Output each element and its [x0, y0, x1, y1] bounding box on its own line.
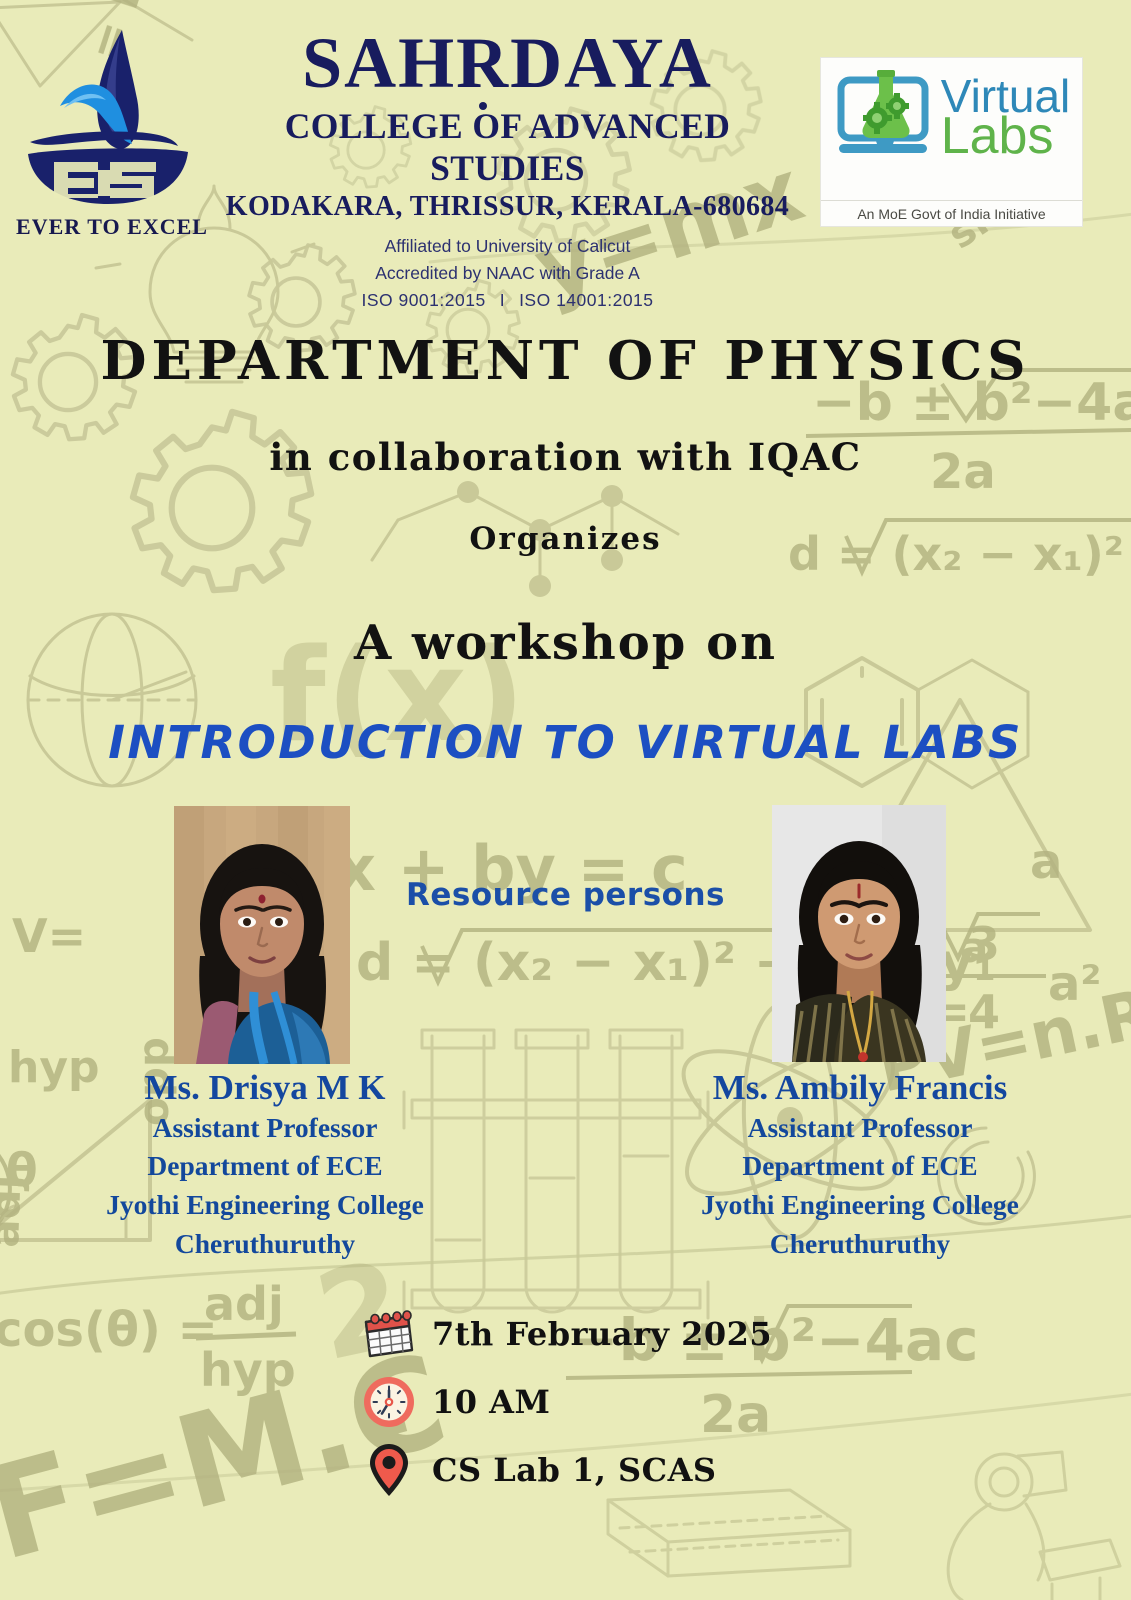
resource-person-place-2: Cheruthuruthy	[650, 1225, 1070, 1264]
resource-person-institution-2: Jyothi Engineering College	[650, 1186, 1070, 1225]
virtual-labs-word-labs: Labs	[941, 114, 1071, 160]
virtual-labs-logo-row: Virtual Labs	[833, 66, 1071, 170]
svg-text:adj: adj	[0, 1174, 31, 1248]
iso-9001: ISO 9001:2015	[361, 290, 485, 310]
resource-person-photo-1	[174, 806, 350, 1064]
resource-person-department-2: Department of ECE	[650, 1147, 1070, 1186]
college-motto: EVER TO EXCEL	[12, 214, 212, 240]
svg-text:4: 4	[968, 985, 1000, 1039]
resource-person-name-2: Ms. Ambily Francis	[650, 1068, 1070, 1109]
college-name-r-diacritic: R	[456, 28, 510, 99]
clock-icon	[362, 1373, 416, 1431]
svg-text:3: 3	[968, 917, 1000, 971]
poster-root: = Lwh y=mx + b sin(θ) −b ± b²−4ac 2a d =…	[0, 0, 1131, 1600]
resource-person-photo-2	[772, 805, 946, 1062]
resource-person-designation-1: Assistant Professor	[60, 1109, 470, 1148]
college-name-block: SAHRDAYA COLLEGE OF ADVANCED STUDIES KOD…	[215, 28, 800, 314]
svg-text:V=: V=	[12, 909, 86, 963]
resource-person-name-1: Ms. Drisya M K	[60, 1068, 470, 1109]
resource-person-details-1: Ms. Drisya M K Assistant Professor Depar…	[60, 1068, 470, 1264]
location-pin-icon	[362, 1441, 416, 1499]
event-detail-time: 10 AM	[362, 1368, 772, 1436]
svg-text:cos(θ) =: cos(θ) =	[0, 1302, 218, 1358]
virtual-labs-wordmark: Virtual Labs	[941, 76, 1071, 160]
event-time-text: 10 AM	[432, 1383, 550, 1421]
resource-person-place-1: Cheruthuruthy	[60, 1225, 470, 1264]
college-name-part1: SAH	[302, 23, 456, 103]
event-detail-date: 7th February 2025	[362, 1300, 772, 1368]
flask-gears-laptop-icon	[833, 66, 937, 170]
event-venue-text: CS Lab 1, SCAS	[432, 1451, 717, 1489]
virtual-labs-tagline: An MoE Govt of India Initiative	[821, 200, 1082, 226]
event-date-text: 7th February 2025	[432, 1315, 772, 1353]
resource-person-details-2: Ms. Ambily Francis Assistant Professor D…	[650, 1068, 1070, 1264]
resource-person-designation-2: Assistant Professor	[650, 1109, 1070, 1148]
college-accreditation-block: Affiliated to University of Calicut Accr…	[215, 233, 800, 314]
collaboration-title: in collaboration with IQAC	[0, 435, 1131, 479]
department-title: DEPARTMENT OF PHYSICS	[0, 330, 1131, 392]
lamp-flame-icon	[24, 22, 200, 218]
workshop-prefix-title: A workshop on	[0, 615, 1131, 671]
organizes-title: Organizes	[0, 521, 1131, 557]
svg-text:a²: a²	[1048, 956, 1101, 1012]
event-detail-venue: CS Lab 1, SCAS	[362, 1436, 772, 1504]
college-address: KODAKARA, THRISSUR, KERALA-680684	[215, 191, 800, 223]
resource-person-institution-1: Jyothi Engineering College	[60, 1186, 470, 1225]
college-subtitle: COLLEGE OF ADVANCED STUDIES	[215, 105, 800, 189]
poster-header: EVER TO EXCEL SAHRDAYA COLLEGE OF ADVANC…	[0, 0, 1131, 280]
calendar-icon	[362, 1305, 416, 1363]
resource-person-department-1: Department of ECE	[60, 1147, 470, 1186]
iso-14001: ISO 14001:2015	[519, 290, 653, 310]
accreditation-line: Accredited by NAAC with Grade A	[215, 260, 800, 287]
event-details-list: 7th February 2025 10 A	[362, 1300, 772, 1504]
svg-text:adj: adj	[204, 1277, 284, 1331]
svg-text:θ: θ	[6, 1143, 38, 1197]
college-name: SAHRDAYA	[215, 28, 800, 99]
college-name-part2: DAYA	[510, 23, 713, 103]
iso-line: ISO 9001:2015IISO 14001:2015	[215, 287, 800, 314]
virtual-labs-logo: Virtual Labs An MoE Govt of India Initia…	[820, 57, 1083, 227]
workshop-topic-title: INTRODUCTION TO VIRTUAL LABS	[0, 716, 1131, 769]
iso-separator: I	[486, 287, 519, 314]
svg-text:hyp: hyp	[200, 1343, 296, 1397]
svg-text:a: a	[960, 923, 988, 972]
resource-persons-label: Resource persons	[0, 877, 1131, 913]
sahrdaya-logo: EVER TO EXCEL	[12, 22, 212, 240]
affiliation-line: Affiliated to University of Calicut	[215, 233, 800, 260]
